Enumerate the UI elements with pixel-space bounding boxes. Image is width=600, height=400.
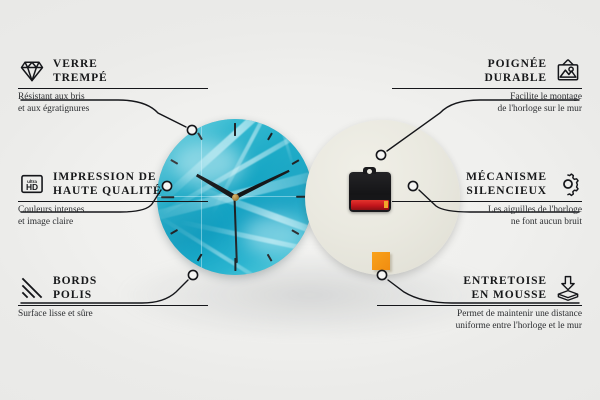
feature-heading: ultra HD IMPRESSION DEHAUTE QUALITÉ [18,170,208,198]
feature-heading: ENTRETOISEEN MOUSSE [377,274,582,302]
feature-title: ENTRETOISEEN MOUSSE [463,274,547,302]
feature-divider [18,305,208,306]
battery [351,200,389,210]
infographic-canvas: VERRETREMPÉ Résistant aux briset aux égr… [0,0,600,400]
feature-divider [377,305,582,306]
feature-divider [18,201,208,202]
feature-durable-handle: POIGNÉEDURABLE Facilite le montagede l'h… [392,57,582,115]
diamond-icon [18,57,46,85]
feature-description: Surface lisse et sûre [18,309,208,321]
press-down-icon [554,274,582,302]
feather-glow [243,215,305,255]
hanging-picture-icon [554,57,582,85]
feature-description: Permet de maintenir une distanceuniforme… [377,309,582,332]
feature-heading: VERRETREMPÉ [18,57,208,85]
clock-mechanism [349,172,391,212]
feature-polished-edges: BORDSPOLIS Surface lisse et sûre [18,274,208,321]
svg-text:HD: HD [26,182,38,192]
feature-tempered-glass: VERRETREMPÉ Résistant aux briset aux égr… [18,57,208,115]
feature-description: Les aiguilles de l'horlogene font aucun … [392,205,582,228]
diagonal-lines-icon [18,274,46,302]
feature-heading: POIGNÉEDURABLE [392,57,582,85]
feature-description: Couleurs intenseset image claire [18,205,208,228]
feature-foam-spacer: ENTRETOISEEN MOUSSE Permet de maintenir … [377,274,582,332]
hanging-hook [363,167,376,174]
feature-title: MÉCANISMESILENCIEUX [466,170,547,198]
foam-spacer-pad [372,252,390,270]
feature-divider [18,88,208,89]
ultra-hd-icon: ultra HD [18,170,46,198]
feature-heading: MÉCANISMESILENCIEUX [392,170,582,198]
feature-heading: BORDSPOLIS [18,274,208,302]
feature-title: VERRETREMPÉ [53,57,108,85]
feature-silent-mechanism: MÉCANISMESILENCIEUX Les aiguilles de l'h… [392,170,582,228]
feature-high-quality-print: ultra HD IMPRESSION DEHAUTE QUALITÉ Coul… [18,170,208,228]
feature-title: BORDSPOLIS [53,274,97,302]
feature-title: POIGNÉEDURABLE [484,57,547,85]
gear-icon [554,170,582,198]
feature-description: Résistant aux briset aux égratignures [18,92,208,115]
feature-description: Facilite le montagede l'horloge sur le m… [392,92,582,115]
feature-title: IMPRESSION DEHAUTE QUALITÉ [53,170,162,198]
feature-divider [392,201,582,202]
feature-divider [392,88,582,89]
